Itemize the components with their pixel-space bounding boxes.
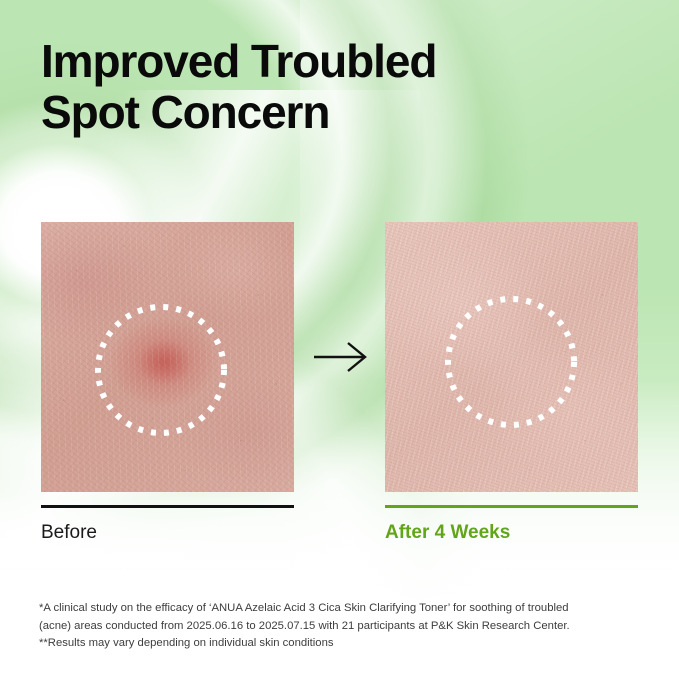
footnote-line-1: *A clinical study on the efficacy of ‘AN… — [39, 600, 639, 618]
before-dotted-circle-marker — [41, 222, 294, 492]
before-photo — [41, 222, 294, 492]
before-label: Before — [41, 521, 97, 545]
footnote: *A clinical study on the efficacy of ‘AN… — [39, 600, 639, 653]
promo-canvas: Improved Troubled Spot Concern Before Af… — [0, 0, 679, 679]
page-title: Improved Troubled Spot Concern — [41, 36, 601, 138]
footnote-line-2: (acne) areas conducted from 2025.06.16 t… — [39, 618, 639, 636]
after-rule — [385, 505, 638, 508]
footnote-line-3: **Results may vary depending on individu… — [39, 635, 639, 653]
before-rule — [41, 505, 294, 508]
after-photo — [385, 222, 638, 492]
after-label: After 4 Weeks — [385, 521, 510, 545]
right-arrow-icon — [312, 340, 370, 374]
page-title-line-2: Spot Concern — [41, 87, 601, 138]
page-title-line-1: Improved Troubled — [41, 36, 601, 87]
after-dotted-circle-marker — [385, 222, 638, 492]
